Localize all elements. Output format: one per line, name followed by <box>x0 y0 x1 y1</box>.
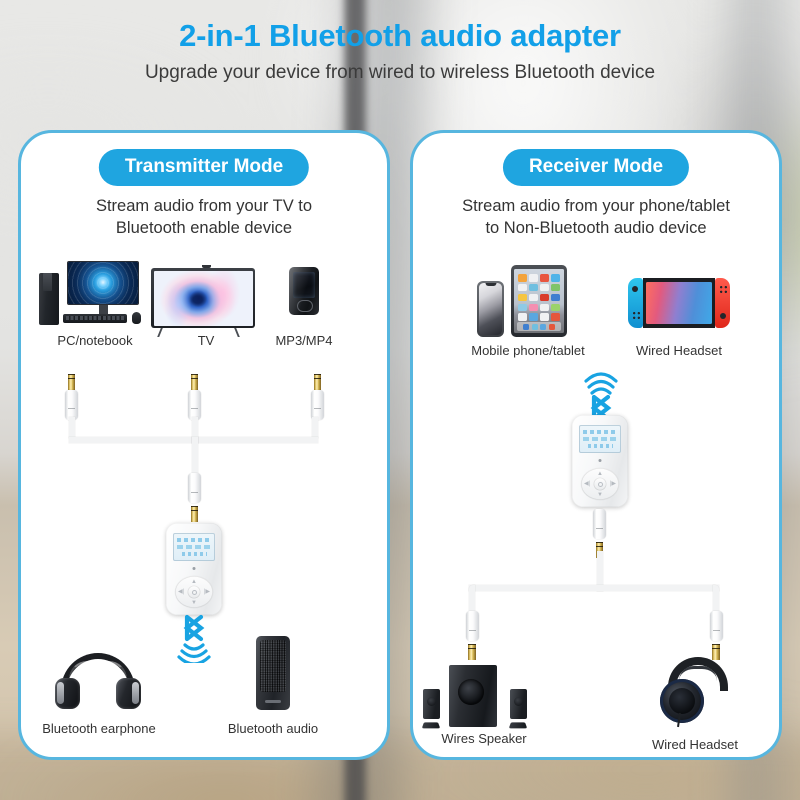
badge-transmitter-mode: Transmitter Mode <box>99 149 309 186</box>
device-pc-notebook <box>37 261 153 323</box>
device-bluetooth-earphone <box>55 653 141 709</box>
adapter-next-icon[interactable]: |▶ <box>204 589 210 595</box>
pc-mouse-icon <box>132 312 141 324</box>
receiver-description: Stream audio from your phone/tablet to N… <box>413 195 779 240</box>
ipad-icon <box>511 265 567 337</box>
bluetooth-signal-icon-receiver <box>572 369 630 419</box>
wire-center-drop <box>192 437 198 477</box>
aux-plug-speaker <box>466 611 479 660</box>
page-subtitle: Upgrade your device from wired to wirele… <box>0 62 800 84</box>
receiver-description-line1: Stream audio from your phone/tablet <box>421 195 771 217</box>
tv-screen-icon <box>151 268 255 328</box>
pc-keyboard-icon <box>63 314 127 323</box>
wired-headset-icon <box>658 657 734 727</box>
adapter-up-icon[interactable]: ▲ <box>597 471 603 477</box>
transmitter-description: Stream audio from your TV to Bluetooth e… <box>21 195 387 240</box>
pc-monitor-icon <box>67 261 139 318</box>
device-phone-tablet <box>477 265 579 343</box>
adapter-led-icon <box>599 459 602 462</box>
wire-horizontal-split <box>469 585 719 591</box>
device-tv <box>151 265 261 328</box>
transmitter-description-line1: Stream audio from your TV to <box>29 195 379 217</box>
caption-console-wired-headset: Wired Headset <box>616 343 742 358</box>
adapter-next-icon[interactable]: |▶ <box>610 481 616 487</box>
adapter-led-icon <box>193 567 196 570</box>
bluetooth-speaker-icon <box>256 636 290 710</box>
device-mp3-mp4 <box>289 267 319 315</box>
caption-mp3-mp4: MP3/MP4 <box>249 333 359 348</box>
bluetooth-audio-adapter-transmitter: ▲ ▼ ◀| |▶ <box>166 523 222 615</box>
adapter-lcd-screen <box>173 533 215 561</box>
header: 2-in-1 Bluetooth audio adapter Upgrade y… <box>0 0 800 84</box>
mp3-player-icon <box>289 267 319 315</box>
ipad-dock <box>517 322 562 331</box>
bluetooth-signal-icon-transmitter <box>165 613 223 663</box>
bluetooth-audio-adapter-receiver: ▲ ▼ ◀| |▶ <box>572 415 628 507</box>
panel-transmitter-mode: Transmitter Mode Stream audio from your … <box>18 130 390 760</box>
receiver-description-line2: to Non-Bluetooth audio device <box>421 217 771 239</box>
device-wires-speaker <box>423 657 527 729</box>
aux-plug-pc <box>65 371 78 420</box>
panel-receiver-mode: Receiver Mode Stream audio from your pho… <box>410 130 782 760</box>
caption-bluetooth-audio: Bluetooth audio <box>207 721 339 736</box>
adapter-play-button[interactable] <box>188 586 201 599</box>
adapter-play-button[interactable] <box>594 478 607 491</box>
device-game-console <box>628 278 730 328</box>
aux-plug-to-adapter <box>188 473 201 522</box>
iphone-icon <box>477 281 504 337</box>
aux-plug-mp3 <box>311 371 324 420</box>
adapter-up-icon[interactable]: ▲ <box>191 579 197 585</box>
transmitter-description-line2: Bluetooth enable device <box>29 217 379 239</box>
device-bluetooth-audio <box>256 636 290 710</box>
adapter-down-icon[interactable]: ▼ <box>191 600 197 606</box>
caption-bluetooth-earphone: Bluetooth earphone <box>31 721 167 736</box>
adapter-control-pad[interactable]: ▲ ▼ ◀| |▶ <box>581 468 619 500</box>
caption-tv: TV <box>151 333 261 348</box>
caption-pc-notebook: PC/notebook <box>37 333 153 348</box>
adapter-down-icon[interactable]: ▼ <box>597 492 603 498</box>
aux-plug-headset <box>710 611 723 660</box>
caption-phone-tablet: Mobile phone/tablet <box>458 343 598 358</box>
adapter-lcd-screen <box>579 425 621 453</box>
game-console-icon <box>628 278 730 328</box>
pc-tower-icon <box>39 267 59 325</box>
adapter-prev-icon[interactable]: ◀| <box>178 589 184 595</box>
page-title: 2-in-1 Bluetooth audio adapter <box>0 18 800 54</box>
adapter-prev-icon[interactable]: ◀| <box>584 481 590 487</box>
speaker-system-icon <box>423 657 527 729</box>
badge-receiver-mode: Receiver Mode <box>503 149 689 186</box>
device-wired-headset <box>658 657 734 727</box>
bluetooth-headphones-icon <box>55 653 141 709</box>
caption-wires-speaker: Wires Speaker <box>411 731 557 746</box>
caption-wired-headset: Wired Headset <box>627 737 763 752</box>
adapter-control-pad[interactable]: ▲ ▼ ◀| |▶ <box>175 576 213 608</box>
ipad-app-grid <box>518 274 561 321</box>
aux-plug-tv <box>188 371 201 420</box>
